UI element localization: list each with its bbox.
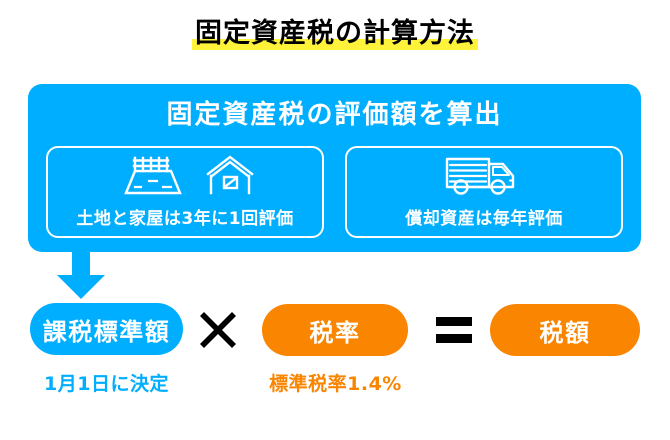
term-tax-amount: 税額 <box>490 304 640 356</box>
banner-cards: 土地と家屋は3年に1回評価 <box>46 146 623 238</box>
term-tax-base-label: 課税標準額 <box>43 312 171 347</box>
note-tax-rate: 標準税率1.4% <box>258 373 413 396</box>
card-land-and-house: 土地と家屋は3年に1回評価 <box>46 146 324 238</box>
term-tax-base: 課税標準額 <box>30 303 183 355</box>
term-tax-rate: 税率 <box>262 304 408 356</box>
infographic-root: 固定資産税の計算方法 固定資産税の評価額を算出 <box>0 0 670 440</box>
card-land-and-house-icons <box>48 154 322 200</box>
card-depreciable-assets-icons <box>347 154 621 200</box>
down-arrow-icon <box>55 250 107 300</box>
truck-icon <box>441 152 527 200</box>
card-land-and-house-label: 土地と家屋は3年に1回評価 <box>48 209 322 229</box>
card-depreciable-assets-label: 償却資産は毎年評価 <box>347 209 621 229</box>
card-depreciable-assets: 償却資産は毎年評価 <box>345 146 623 238</box>
term-tax-rate-label: 税率 <box>310 313 361 348</box>
equals-icon <box>432 312 476 348</box>
note-tax-base: 1月1日に決定 <box>30 373 183 396</box>
banner-heading: 固定資産税の評価額を算出 <box>28 100 641 130</box>
page-title: 固定資産税の計算方法 <box>0 18 670 50</box>
title-label: 固定資産税の計算方法 <box>195 18 475 49</box>
house-icon <box>203 152 257 200</box>
land-plot-icon <box>113 152 189 200</box>
valuation-banner: 固定資産税の評価額を算出 <box>28 84 641 252</box>
term-tax-amount-label: 税額 <box>540 313 591 348</box>
multiply-icon <box>196 310 240 350</box>
page-title-text: 固定資産税の計算方法 <box>192 18 478 50</box>
